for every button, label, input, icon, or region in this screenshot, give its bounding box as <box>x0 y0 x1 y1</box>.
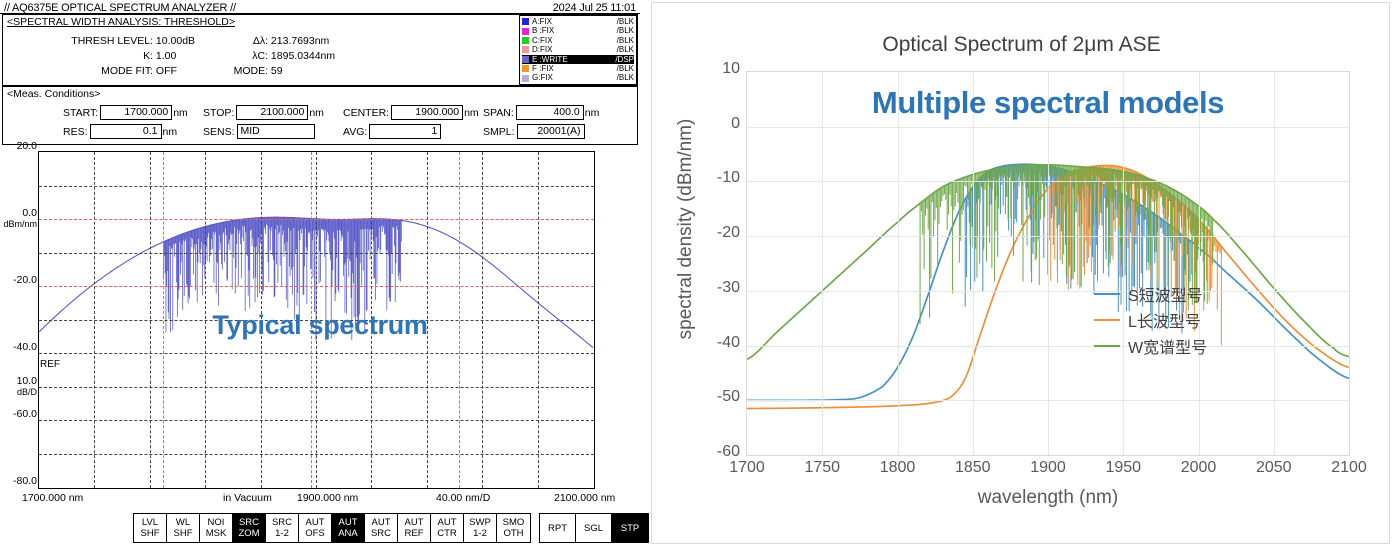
measurement-conditions-panel: <Meas. Conditions> START:1700.000nmSTOP:… <box>2 86 638 145</box>
delta-lambda-value: 213.7693nm <box>271 35 329 47</box>
chart-vertical-gridline <box>1199 72 1200 455</box>
mode-value: 59 <box>271 65 283 77</box>
meas-field-label: SENS: <box>203 126 235 138</box>
softkey-swp1-2[interactable]: SWP1-2 <box>464 514 497 542</box>
softkey-group-sweep[interactable]: RPTSGLSTP <box>539 513 649 543</box>
trace-mode: /BLK <box>617 64 634 73</box>
trace-name: F :FIX <box>532 64 617 73</box>
chart-y-tick-label: -20 <box>717 224 740 242</box>
meas-field-unit: nm <box>464 107 479 119</box>
osa-horizontal-gridline <box>39 253 594 254</box>
chart-title: Optical Spectrum of 2μm ASE <box>652 33 1391 57</box>
softkey-line1: AUT <box>339 517 358 528</box>
chart-vertical-gridline <box>1123 72 1124 455</box>
softkey-line2: 1-2 <box>275 528 289 539</box>
trace-color-swatch-icon <box>522 56 529 63</box>
chart-x-tick-label: 1950 <box>1105 459 1141 477</box>
k-row: K: 1.00 <box>33 50 176 62</box>
softkey-line1: SRC <box>239 517 259 528</box>
osa-datetime: 2024 Jul 25 11:01 <box>553 2 636 14</box>
trace-name: A:FIX <box>532 17 617 26</box>
softkey-line2: 1-2 <box>473 528 487 539</box>
chart-y-tick-label: -40 <box>717 334 740 352</box>
trace-mode: /BLK <box>617 26 634 35</box>
trace-color-swatch-icon <box>522 28 529 35</box>
legend-label: W宽谱型号 <box>1128 334 1207 358</box>
lambda-c-row: λC: 1895.0344nm <box>228 50 335 62</box>
trace-mode: /BLK <box>617 36 634 45</box>
meas-field-label: START: <box>63 107 98 119</box>
delta-lambda-row: Δλ: 213.7693nm <box>228 35 329 47</box>
softkey-line2: OTH <box>503 528 523 539</box>
x-start-label: 1700.000 nm <box>22 492 83 504</box>
chart-x-tick-label: 1800 <box>880 459 916 477</box>
meas-field-value[interactable]: MID <box>237 124 315 139</box>
chart-annotation-multiple-models: Multiple spectral models <box>746 85 1350 121</box>
softkey-line1: SMO <box>503 517 525 528</box>
chart-y-tick-label: 0 <box>731 115 740 133</box>
meas-field-value[interactable]: 1700.000 <box>100 105 172 120</box>
legend-color-line-icon <box>1094 319 1120 321</box>
softkey-autana[interactable]: AUTANA <box>332 514 365 542</box>
chart-legend-item[interactable]: L长波型号 <box>1094 307 1207 333</box>
trace-color-swatch-icon <box>522 37 529 44</box>
meas-field-res[interactable]: RES:0.1nm <box>63 123 177 140</box>
meas-field-center[interactable]: CENTER:1900.000nm <box>343 104 479 121</box>
osa-threshold-level-line <box>39 286 594 287</box>
mode-fit-label: MODE FIT: <box>33 65 153 77</box>
k-value: 1.00 <box>156 50 176 62</box>
trace-color-swatch-icon <box>522 65 529 72</box>
softkey-line1: AUT <box>438 517 457 528</box>
chart-y-tick-label: -10 <box>717 169 740 187</box>
trace-row-e[interactable]: E :WRITE/DSP <box>522 55 634 64</box>
x-div-label: 40.00 nm/D <box>436 492 490 504</box>
chart-x-axis-title: wavelength (nm) <box>746 487 1350 509</box>
trace-name: C:FIX <box>532 36 617 45</box>
trace-row-c[interactable]: C:FIX/BLK <box>522 36 634 45</box>
osa-y-div-unit: dB/D <box>17 387 37 397</box>
softkey-line2: SHF <box>141 528 160 539</box>
softkey-rpt[interactable]: RPT <box>540 514 576 542</box>
meas-field-value[interactable]: 1900.000 <box>391 105 463 120</box>
meas-conditions-title: <Meas. Conditions> <box>7 88 100 100</box>
softkey-autctr[interactable]: AUTCTR <box>431 514 464 542</box>
softkey-group-functions[interactable]: LVLSHFWLSHFNOIMSKSRCZOMSRC1-2AUTOFSAUTAN… <box>133 513 531 543</box>
softkey-smooth[interactable]: SMOOTH <box>497 514 530 542</box>
osa-threshold-level-line <box>39 219 594 220</box>
softkey-line1: LVL <box>142 517 158 528</box>
chart-y-tick-label: -50 <box>717 388 740 406</box>
meas-field-value[interactable]: 0.1 <box>90 124 162 139</box>
softkey-line2: ZOM <box>238 528 259 539</box>
softkey-line1: SRC <box>272 517 292 528</box>
chart-x-tick-label: 1850 <box>955 459 991 477</box>
meas-field-label: STOP: <box>203 107 234 119</box>
osa-horizontal-gridline <box>39 454 594 455</box>
trace-name: D:FIX <box>532 45 617 54</box>
meas-field-value[interactable]: 2100.000 <box>236 105 308 120</box>
meas-field-sens[interactable]: SENS:MID <box>203 123 315 140</box>
trace-color-swatch-icon <box>522 46 529 53</box>
x-center-label: 1900.000 nm <box>297 492 358 504</box>
chart-vertical-gridline <box>1048 72 1049 455</box>
softkey-line2: SRC <box>371 528 391 539</box>
osa-y-tick-label: -20.0 <box>13 274 37 286</box>
osa-horizontal-gridline <box>39 353 594 354</box>
meas-field-smpl[interactable]: SMPL:20001(A) <box>483 123 585 140</box>
chart-y-tick-label: 10 <box>722 60 740 78</box>
trace-row-a[interactable]: A:FIX/BLK <box>522 17 634 26</box>
softkey-line1: RPT <box>548 523 567 534</box>
softkey-line1: STP <box>621 523 639 534</box>
softkey-lvlshf[interactable]: LVLSHF <box>134 514 167 542</box>
softkey-line2: SHF <box>174 528 193 539</box>
chart-plot-area[interactable] <box>746 71 1350 456</box>
legend-color-line-icon <box>1094 293 1120 295</box>
softkey-sgl[interactable]: SGL <box>576 514 612 542</box>
softkey-srczom[interactable]: SRCZOM <box>233 514 266 542</box>
meas-field-label: AVG: <box>343 126 367 138</box>
trace-row-d[interactable]: D:FIX/BLK <box>522 45 634 54</box>
trace-mode: /BLK <box>617 73 634 82</box>
softkey-noimsk[interactable]: NOIMSK <box>200 514 233 542</box>
softkey-line1: AUT <box>405 517 424 528</box>
chart-x-tick-labels: 170017501800185019001950200020502100 <box>746 459 1350 481</box>
osa-screen: // AQ6375E OPTICAL SPECTRUM ANALYZER // … <box>0 0 640 546</box>
meas-field-label: RES: <box>63 126 88 138</box>
softkey-stp[interactable]: STP <box>612 514 648 542</box>
osa-horizontal-gridline <box>39 387 594 388</box>
mode-fit-row: MODE FIT: OFF <box>33 65 177 77</box>
thresh-level-row: THRESH LEVEL: 10.00dB <box>33 35 195 47</box>
meas-field-unit: nm <box>309 107 324 119</box>
analysis-panel-title: <SPECTRAL WIDTH ANALYSIS: THRESHOLD> <box>7 16 235 28</box>
osa-title: // AQ6375E OPTICAL SPECTRUM ANALYZER // <box>4 2 236 14</box>
trace-list-panel[interactable]: A:FIX/BLKB :FIX/BLKC:FIX/BLKD:FIX/BLKE :… <box>519 15 637 85</box>
softkey-line1: WL <box>176 517 190 528</box>
trace-color-swatch-icon <box>522 75 529 82</box>
osa-horizontal-gridline <box>39 186 594 187</box>
chart-vertical-gridline <box>1274 72 1275 455</box>
trace-row-g[interactable]: G:FIX/BLK <box>522 73 634 82</box>
chart-x-tick-label: 2050 <box>1256 459 1292 477</box>
chart-x-tick-label: 2100 <box>1331 459 1367 477</box>
osa-y-tick-label: 0.0 <box>22 207 37 219</box>
osa-y-div-value: 10.0 <box>17 375 37 387</box>
softkey-line2: MSK <box>206 528 227 539</box>
trace-mode: /BLK <box>617 17 634 26</box>
chart-horizontal-gridline <box>747 455 1349 456</box>
softkey-autofs[interactable]: AUTOFS <box>299 514 332 542</box>
delta-lambda-label: Δλ: <box>228 35 268 47</box>
x-vacuum-label: in Vacuum <box>223 492 272 504</box>
chart-y-tick-label: -30 <box>717 279 740 297</box>
trace-mode: /DSP <box>615 55 634 64</box>
meas-field-label: SMPL: <box>483 126 515 138</box>
meas-field-label: CENTER: <box>343 107 389 119</box>
softkey-line2: REF <box>405 528 424 539</box>
osa-annotation-typical-spectrum: Typical spectrum <box>0 310 640 341</box>
softkey-line2: OFS <box>305 528 325 539</box>
lambda-c-value: 1895.0344nm <box>271 50 335 62</box>
softkey-line1: SWP <box>469 517 491 528</box>
osa-ref-marker: REF <box>40 359 60 370</box>
softkey-line1: SGL <box>584 523 603 534</box>
meas-field-stop[interactable]: STOP:2100.000nm <box>203 104 324 121</box>
chart-y-axis-title: spectral density (dBm/nm) <box>675 59 697 399</box>
meas-field-value[interactable]: 400.0 <box>516 105 584 120</box>
chart-legend[interactable]: S短波型号L长波型号W宽谱型号 <box>1094 281 1207 359</box>
meas-field-avg[interactable]: AVG:1 <box>343 123 441 140</box>
chart-x-tick-label: 1900 <box>1030 459 1066 477</box>
meas-field-unit: nm <box>173 107 188 119</box>
meas-field-span[interactable]: SPAN:400.0nm <box>483 104 599 121</box>
meas-field-label: SPAN: <box>483 107 514 119</box>
trace-row-f[interactable]: F :FIX/BLK <box>522 64 634 73</box>
legend-color-line-icon <box>1094 345 1120 347</box>
osa-y-tick-label: -60.0 <box>13 408 37 420</box>
meas-field-unit: nm <box>585 107 600 119</box>
softkey-autsrc[interactable]: AUTSRC <box>365 514 398 542</box>
osa-y-axis-unit: dBm/nm <box>3 219 37 229</box>
trace-name: E :WRITE <box>532 55 615 64</box>
softkey-line2: ANA <box>338 528 358 539</box>
osa-y-tick-label: -80.0 <box>13 475 37 487</box>
meas-field-unit: nm <box>163 126 178 138</box>
osa-y-tick-label: 20.0 <box>17 140 37 152</box>
thresh-level-label: THRESH LEVEL: <box>33 35 153 47</box>
mode-row: MODE: 59 <box>228 65 283 77</box>
chart-x-tick-label: 1700 <box>729 459 765 477</box>
k-label: K: <box>33 50 153 62</box>
trace-color-swatch-icon <box>522 18 529 25</box>
softkey-wlshf[interactable]: WLSHF <box>167 514 200 542</box>
softkey-src1-2[interactable]: SRC1-2 <box>266 514 299 542</box>
meas-row-2: RES:0.1nmSENS:MIDAVG:1SMPL:20001(A) <box>3 123 639 140</box>
softkey-line2: CTR <box>437 528 457 539</box>
osa-horizontal-gridline <box>39 420 594 421</box>
x-stop-label: 2100.000 nm <box>554 492 615 504</box>
softkey-line1: NOI <box>208 517 225 528</box>
trace-name: B :FIX <box>532 26 617 35</box>
chart-legend-item[interactable]: S短波型号 <box>1094 281 1207 307</box>
meas-row-1: START:1700.000nmSTOP:2100.000nmCENTER:19… <box>3 104 639 121</box>
meas-field-start[interactable]: START:1700.000nm <box>63 104 188 121</box>
chart-vertical-gridline <box>822 72 823 455</box>
osa-x-axis-labels: 1700.000 nm in Vacuum 1900.000 nm 40.00 … <box>0 492 640 506</box>
meas-field-value[interactable]: 20001(A) <box>517 124 585 139</box>
trace-name: G:FIX <box>532 73 617 82</box>
mode-fit-value: OFF <box>156 65 177 77</box>
osa-y-tick-label: -40.0 <box>13 341 37 353</box>
chart-legend-item[interactable]: W宽谱型号 <box>1094 333 1207 359</box>
legend-label: L长波型号 <box>1128 308 1201 332</box>
chart-vertical-gridline <box>898 72 899 455</box>
softkey-autref[interactable]: AUTREF <box>398 514 431 542</box>
spectrum-chart-panel: Optical Spectrum of 2μm ASE 100-10-20-30… <box>651 2 1390 544</box>
softkey-line1: AUT <box>306 517 325 528</box>
chart-x-tick-label: 2000 <box>1181 459 1217 477</box>
meas-field-value[interactable]: 1 <box>369 124 441 139</box>
trace-mode: /BLK <box>617 45 634 54</box>
thresh-level-value: 10.00dB <box>156 35 195 47</box>
chart-vertical-gridline <box>973 72 974 455</box>
lambda-c-label: λC: <box>228 50 268 62</box>
softkey-line1: AUT <box>372 517 391 528</box>
softkey-bar[interactable]: LVLSHFWLSHFNOIMSKSRCZOMSRC1-2AUTOFSAUTAN… <box>133 513 649 543</box>
chart-x-tick-label: 1750 <box>804 459 840 477</box>
legend-label: S短波型号 <box>1128 282 1203 306</box>
osa-graph: 20.00.0-20.0-40.0-60.0-80.0dBm/nm10.0dB/… <box>0 146 640 486</box>
mode-label: MODE: <box>228 65 268 77</box>
trace-row-b[interactable]: B :FIX/BLK <box>522 26 634 35</box>
